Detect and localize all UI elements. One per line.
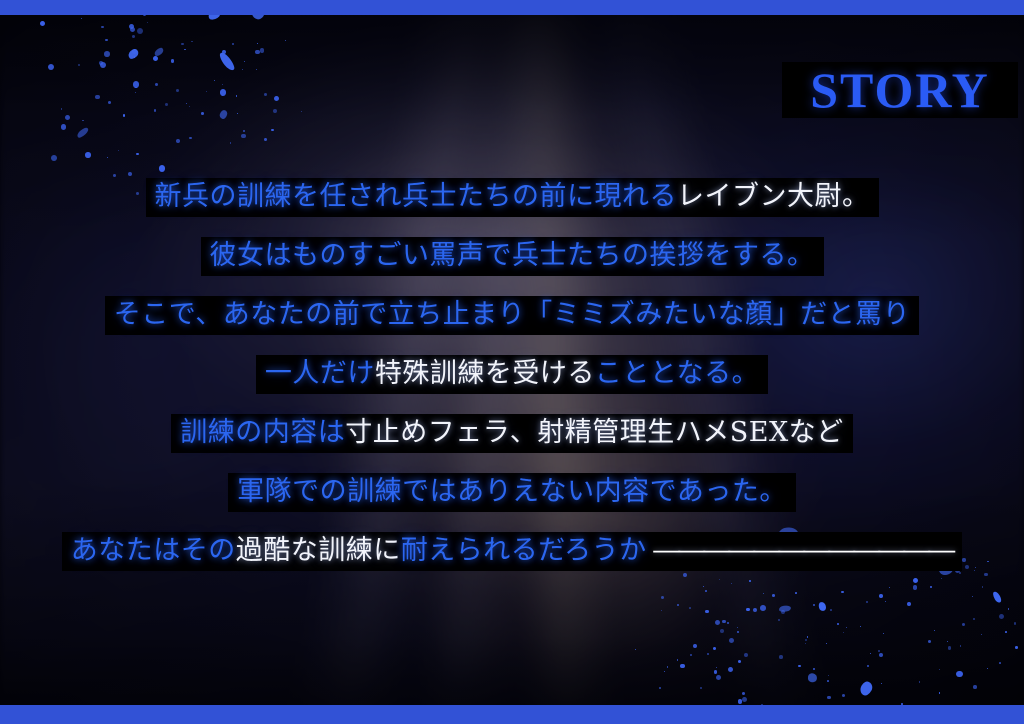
splatter-blob [219,109,228,119]
splatter-dot [101,26,103,28]
splatter-dot [256,69,257,70]
splatter-dot [40,21,46,27]
splatter-dot [184,49,186,51]
splatter-dot [133,81,140,88]
splatter-dot [919,681,921,683]
splatter-dot [237,113,238,114]
splatter-blob [858,679,874,697]
story-line-segment: 特殊訓練を受ける [375,358,595,389]
splatter-dot [118,150,119,151]
splatter-dot [165,103,168,106]
splatter-dot [191,41,193,43]
splatter-dot [693,644,697,648]
splatter-dot [889,587,890,588]
splatter-dot [843,632,844,633]
story-line: 彼女はものすごい罵声で兵士たちの挨拶をする。 [201,237,824,276]
splatter-dot [727,622,729,624]
splatter-dot [680,664,684,668]
splatter-dot [719,579,720,580]
splatter-dot [827,680,829,682]
splatter-dot [220,89,227,96]
splatter-dot [795,592,797,594]
splatter-dot [301,111,302,112]
splatter-dot [243,130,245,132]
splatter-dot [81,18,82,19]
splatter-blob [127,47,141,60]
splatter-dot [1005,631,1007,633]
splatter-dot [222,84,223,85]
bottom-border-bar [0,705,1024,724]
story-line: 新兵の訓練を任され兵士たちの前に現れるレイブン大尉。 [146,178,879,217]
splatter-dot [746,608,750,612]
splatter-dot [236,95,238,97]
splatter-dot [805,639,808,642]
story-text-block: 新兵の訓練を任され兵士たちの前に現れるレイブン大尉。彼女はものすごい罵声で兵士た… [0,178,1024,571]
splatter-dot [61,124,66,129]
splatter-dot [805,643,806,644]
splatter-dot [705,590,707,592]
story-line: そこで、あなたの前で立ち止まり「ミミズみたいな顔」だと罵り [105,296,919,335]
splatter-dot [134,56,135,57]
splatter-dot [273,109,277,113]
splatter-dot [749,580,751,582]
splatter-dot [135,87,136,88]
splatter-dot [1014,622,1017,625]
splatter-dot [95,95,99,99]
splatter-dot [135,92,136,93]
splatter-blob [77,126,90,138]
story-line-segment: レイブン大尉。 [677,181,870,212]
splatter-dot [742,697,747,702]
splatter-dot [48,64,54,70]
story-line-segment: 訓練の内容は [180,417,345,448]
splatter-dot [885,601,886,602]
splatter-dot [841,591,844,594]
splatter-dot [827,696,831,700]
splatter-dot [78,64,80,66]
splatter-dot [720,629,724,633]
splatter-blob [992,590,1003,604]
splatter-dot [930,586,931,587]
splatter-dot [123,114,126,117]
splatter-dot [826,643,827,644]
splatter-blob [818,601,827,611]
splatter-dot [842,694,845,697]
splatter-dot [813,604,815,606]
splatter-dot [159,165,165,171]
splatter-dot [879,653,883,657]
story-line-segment: 軍隊での訓練ではありえない内容であった。 [237,476,787,507]
splatter-dot [176,139,180,143]
splatter-blob [807,673,817,683]
splatter-dot [285,40,286,41]
splatter-dot [973,618,975,620]
story-page: STORY 新兵の訓練を任され兵士たちの前に現れるレイブン大尉。彼女はものすごい… [0,0,1024,724]
splatter-dot [939,669,940,670]
splatter-dot [176,89,179,92]
splatter-dot [705,610,709,614]
splatter-dot [689,607,691,609]
splatter-dot [130,27,135,32]
splatter-dot [907,602,911,606]
splatter-dot [744,653,748,657]
splatter-dot [241,134,246,139]
story-line-segment: 新兵の訓練を任され兵士たちの前に現れる [155,181,678,212]
splatter-dot [153,56,158,61]
splatter-dot [154,109,156,111]
story-line: 訓練の内容は寸止めフェラ、射精管理生ハメSEXなど [171,414,852,453]
splatter-dot [779,655,783,659]
splatter-dot [171,59,175,63]
splatter-dot [755,609,757,611]
splatter-dot [828,675,829,676]
splatter-dot [136,153,139,156]
splatter-dot [716,667,717,668]
splatter-dot [635,649,636,650]
splatter-dot [760,605,766,611]
splatter-dot [870,653,871,654]
splatter-dot [677,659,678,660]
splatter-dot [987,668,988,669]
splatter-dot [731,583,732,584]
splatter-dot [962,623,965,626]
splatter-dot [866,601,868,603]
splatter-dot [147,22,148,23]
splatter-dot [707,653,709,655]
splatter-dot [155,83,159,87]
splatter-dot [242,69,243,70]
splatter-dot [201,112,204,115]
splatter-dot [51,155,57,161]
splatter-dot [232,43,234,45]
splatter-dot [960,645,962,647]
splatter-dot [664,671,665,672]
splatter-dot [659,687,661,689]
splatter-dot [753,608,757,612]
splatter-dot [264,138,267,141]
splatter-dot [132,49,138,55]
story-line-segment: こととなる。 [595,358,759,389]
splatter-dot [274,96,280,102]
splatter-dot [108,101,111,104]
splatter-dot [737,627,738,628]
story-line-segment: 過酷な訓練に [236,535,401,566]
splatter-dot [100,62,106,68]
splatter-dot [972,596,973,597]
story-line-segment: 彼女はものすごい罵声で兵士たちの挨拶をする。 [210,240,815,271]
splatter-dot [113,174,116,177]
splatter-dot [99,61,104,66]
splatter-dot [939,692,941,694]
splatter-dot [61,108,62,109]
story-line-segment: 耐えられるだろうか [401,535,647,566]
splatter-dot [189,106,191,108]
splatter-dot [742,692,745,695]
splatter-dot [830,609,832,611]
splatter-dot [677,604,679,606]
splatter-dot [867,665,869,667]
splatter-dot [941,578,942,579]
splatter-dot [690,654,692,656]
splatter-dot [132,35,136,39]
story-line: あなたはその過酷な訓練に耐えられるだろうか ―――――――――――― [62,532,962,571]
splatter-dot [928,640,931,643]
story-line-segment: 寸止めフェラ、射精管理生ハメSEXなど [345,417,843,448]
splatter-dot [947,641,949,643]
splatter-dot [982,586,984,588]
splatter-dot [230,142,231,143]
splatter-dot [222,50,226,54]
splatter-dot [716,675,722,681]
splatter-dot [137,28,143,34]
splatter-dot [714,670,718,674]
splatter-blob [779,605,791,613]
splatter-dot [715,620,720,625]
splatter-blob [153,46,164,57]
splatter-dot [713,647,716,650]
splatter-dot [738,699,742,703]
splatter-dot [105,39,108,42]
story-line-segment: ―――――――――――― [647,535,954,566]
splatter-blob [217,51,236,73]
story-line-segment: あなたはその [71,535,236,566]
splatter-dot [661,610,663,612]
splatter-dot [772,594,775,597]
splatter-dot [260,48,265,53]
splatter-dot [934,630,935,631]
splatter-bottom-right [640,560,1024,710]
story-line: 一人だけ特殊訓練を受けることとなる。 [256,355,768,394]
splatter-dot [913,585,917,589]
splatter-dot [700,687,702,689]
splatter-dot [186,103,187,104]
story-line: 軍隊での訓練ではありえない内容であった。 [228,473,796,512]
splatter-dot [738,660,742,664]
splatter-dot [878,650,881,653]
splatter-dot [255,50,260,55]
splatter-dot [956,671,962,677]
splatter-dot [1015,646,1018,649]
splatter-dot [837,623,839,625]
splatter-dot [257,43,258,44]
splatter-dot [813,668,815,670]
splatter-top-left [40,8,300,198]
splatter-dot [973,685,977,689]
splatter-dot [999,614,1005,620]
splatter-dot [959,572,962,575]
splatter-dot [264,93,267,96]
splatter-dot [129,24,134,29]
splatter-dot [879,594,883,598]
splatter-dot [65,115,70,120]
splatter-dot [222,95,223,96]
splatter-dot [948,646,951,649]
splatter-dot [85,152,90,157]
splatter-dot [206,91,207,92]
splatter-dot [807,636,809,638]
splatter-dot [244,61,245,62]
splatter-dot [1008,608,1009,609]
splatter-dot [189,137,192,140]
splatter-dot [128,172,132,176]
splatter-dot [107,157,108,158]
splatter-dot [763,593,764,594]
splatter-dot [984,573,988,577]
splatter-dot [729,638,734,643]
splatter-dot [781,610,785,614]
splatter-dot [703,586,704,587]
splatter-dot [778,619,780,621]
splatter-dot [798,665,801,668]
splatter-dot [104,51,110,57]
story-heading-text: STORY [810,65,990,115]
splatter-dot [913,578,918,583]
splatter-dot [737,631,739,633]
splatter-dot [181,43,184,46]
splatter-dot [881,683,882,684]
top-border-bar [0,0,1024,15]
splatter-dot [860,626,861,627]
splatter-dot [661,596,664,599]
splatter-dot [214,80,215,81]
splatter-dot [82,120,83,121]
splatter-dot [667,666,669,668]
splatter-dot [722,620,726,624]
splatter-dot [981,634,982,635]
story-line-segment: 一人だけ [265,358,375,389]
splatter-dot [999,662,1001,664]
story-heading-band: STORY [782,62,1018,118]
splatter-dot [683,573,687,577]
splatter-dot [883,633,884,634]
splatter-dot [846,627,847,628]
splatter-dot [271,129,273,131]
story-line-segment: そこで、あなたの前で立ち止まり「ミミズみたいな顔」だと罵り [114,299,910,330]
splatter-dot [728,667,733,672]
